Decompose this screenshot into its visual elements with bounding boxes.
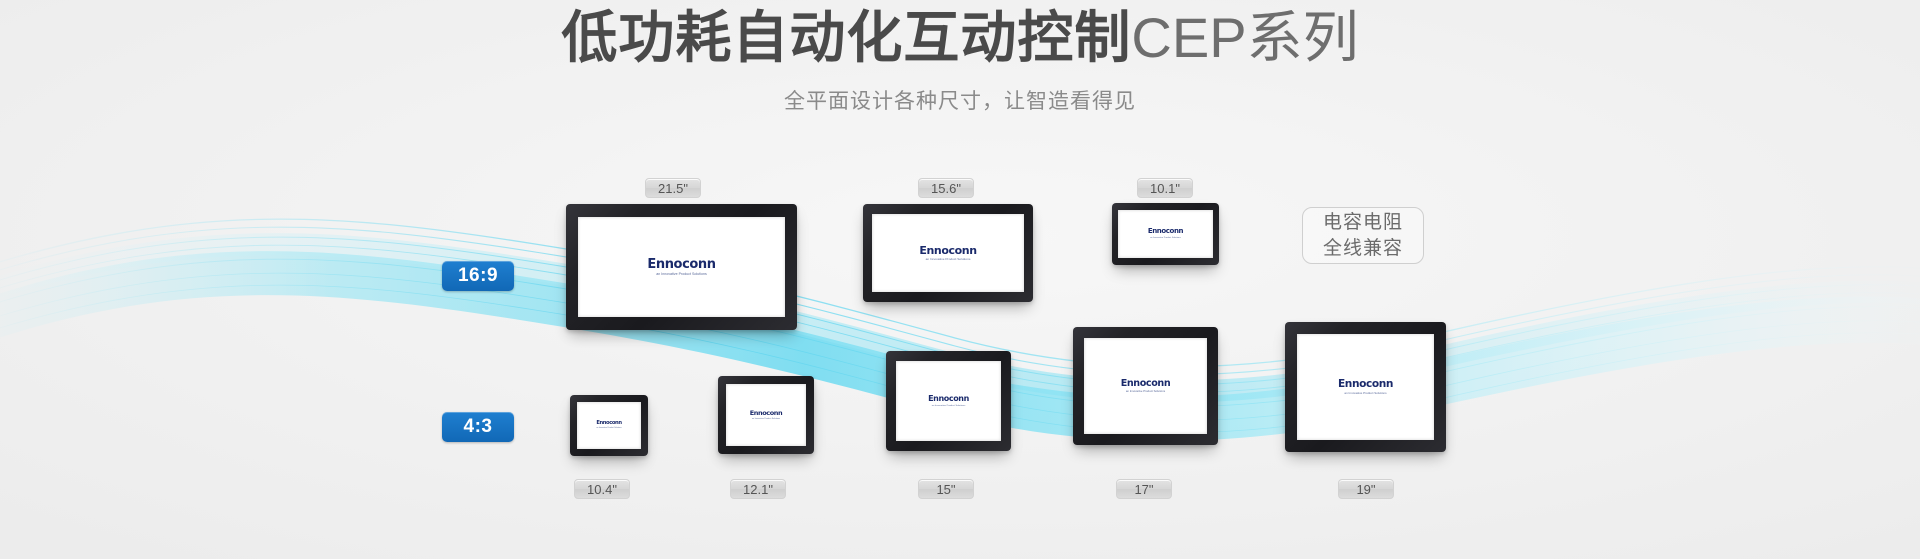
ennoconn-logo-tagline: an Innovative Product Solutions <box>656 273 707 276</box>
monitor-21-5[interactable]: Ennoconn an Innovative Product Solutions <box>566 204 797 330</box>
ennoconn-logo-tagline: an Innovative Product Solutions <box>932 405 966 407</box>
size-badge-15-6: 15.6" <box>918 178 974 198</box>
monitor-15[interactable]: Ennoconn an Innovative Product Solutions <box>886 351 1011 451</box>
ennoconn-logo-word: Ennoconn <box>596 421 621 426</box>
ennoconn-logo: Ennoconn an Innovative Product Solutions <box>750 410 783 421</box>
title-main-text: 低功耗自动化互动控制 <box>561 6 1131 69</box>
ennoconn-logo: Ennoconn an Innovative Product Solutions <box>596 421 621 430</box>
size-badge-21-5: 21.5" <box>645 178 701 198</box>
monitor-10-1-screen: Ennoconn an Innovative Product Solutions <box>1118 210 1213 258</box>
ennoconn-logo-tagline: an Innovative Product Solutions <box>1126 391 1165 394</box>
size-badge-12-1-label: 12.1" <box>743 482 773 497</box>
ennoconn-logo-tagline: an Innovative Product Solutions <box>752 418 780 420</box>
size-badge-10-4: 10.4" <box>574 479 630 499</box>
monitor-19-screen: Ennoconn an Innovative Product Solutions <box>1297 334 1434 440</box>
monitor-19[interactable]: Ennoconn an Innovative Product Solutions <box>1285 322 1446 452</box>
monitor-17[interactable]: Ennoconn an Innovative Product Solutions <box>1073 327 1218 445</box>
compatibility-note-line1: 电容电阻 <box>1323 210 1403 236</box>
ennoconn-logo-tagline: an Innovative Product Solutions <box>1150 238 1181 240</box>
ennoconn-logo: Ennoconn an Innovative Product Solutions <box>1148 228 1183 239</box>
title-series-text: CEP系列 <box>1131 6 1358 69</box>
size-badge-15-6-label: 15.6" <box>931 181 961 196</box>
product-banner: 低功耗自动化互动控制CEP系列 全平面设计各种尺寸，让智造看得见 16:9 4:… <box>0 0 1920 559</box>
size-badge-19-label: 19" <box>1356 482 1375 497</box>
ennoconn-logo-word: Ennoconn <box>919 245 976 256</box>
page-title: 低功耗自动化互动控制CEP系列 <box>0 0 1920 69</box>
ennoconn-logo-tagline: an Innovative Product Solutions <box>596 428 621 430</box>
compatibility-note-line2: 全线兼容 <box>1323 236 1403 262</box>
ennoconn-logo-word: Ennoconn <box>928 395 969 403</box>
monitor-15-6-screen: Ennoconn an Innovative Product Solutions <box>872 214 1024 292</box>
monitor-12-1[interactable]: Ennoconn an Innovative Product Solutions <box>718 376 814 454</box>
ennoconn-logo-word: Ennoconn <box>1121 379 1171 389</box>
size-badge-15-label: 15" <box>936 482 955 497</box>
ennoconn-logo: Ennoconn an Innovative Product Solutions <box>1121 379 1171 393</box>
monitor-15-screen: Ennoconn an Innovative Product Solutions <box>896 361 1001 441</box>
ennoconn-logo-word: Ennoconn <box>647 258 715 271</box>
ennoconn-logo-word: Ennoconn <box>1148 228 1183 235</box>
size-badge-21-5-label: 21.5" <box>658 181 688 196</box>
banner-header: 低功耗自动化互动控制CEP系列 全平面设计各种尺寸，让智造看得见 <box>0 0 1920 115</box>
size-badge-15: 15" <box>918 479 974 499</box>
ratio-badge-16-9-label: 16:9 <box>458 265 498 287</box>
compatibility-note: 电容电阻 全线兼容 <box>1302 207 1424 264</box>
ennoconn-logo: Ennoconn an Innovative Product Solutions <box>1338 379 1393 395</box>
size-badge-10-1: 10.1" <box>1137 178 1193 198</box>
ennoconn-logo-tagline: an Innovative Product Solutions <box>926 258 971 261</box>
size-badge-12-1: 12.1" <box>730 479 786 499</box>
ratio-badge-4-3-label: 4:3 <box>464 416 493 438</box>
monitor-21-5-screen: Ennoconn an Innovative Product Solutions <box>578 217 785 317</box>
monitor-12-1-screen: Ennoconn an Innovative Product Solutions <box>726 384 806 446</box>
monitor-10-1[interactable]: Ennoconn an Innovative Product Solutions <box>1112 203 1219 265</box>
size-badge-17: 17" <box>1116 479 1172 499</box>
ratio-badge-4-3: 4:3 <box>442 412 514 442</box>
size-badge-10-4-label: 10.4" <box>587 482 617 497</box>
size-badge-10-1-label: 10.1" <box>1150 181 1180 196</box>
size-badge-17-label: 17" <box>1134 482 1153 497</box>
ennoconn-logo-tagline: an Innovative Product Solutions <box>1344 392 1386 395</box>
ratio-badge-16-9: 16:9 <box>442 261 514 291</box>
monitor-17-screen: Ennoconn an Innovative Product Solutions <box>1084 338 1207 434</box>
ennoconn-logo: Ennoconn an Innovative Product Solutions <box>928 395 969 407</box>
monitor-10-4-screen: Ennoconn an Innovative Product Solutions <box>577 402 641 449</box>
ennoconn-logo: Ennoconn an Innovative Product Solutions <box>919 245 976 261</box>
ennoconn-logo-word: Ennoconn <box>1338 379 1393 390</box>
ennoconn-logo: Ennoconn an Innovative Product Solutions <box>647 258 715 277</box>
size-badge-19: 19" <box>1338 479 1394 499</box>
monitor-15-6[interactable]: Ennoconn an Innovative Product Solutions <box>863 204 1033 302</box>
ennoconn-logo-word: Ennoconn <box>750 410 783 417</box>
page-subtitle: 全平面设计各种尺寸，让智造看得见 <box>0 69 1920 115</box>
monitor-10-4[interactable]: Ennoconn an Innovative Product Solutions <box>570 395 648 456</box>
